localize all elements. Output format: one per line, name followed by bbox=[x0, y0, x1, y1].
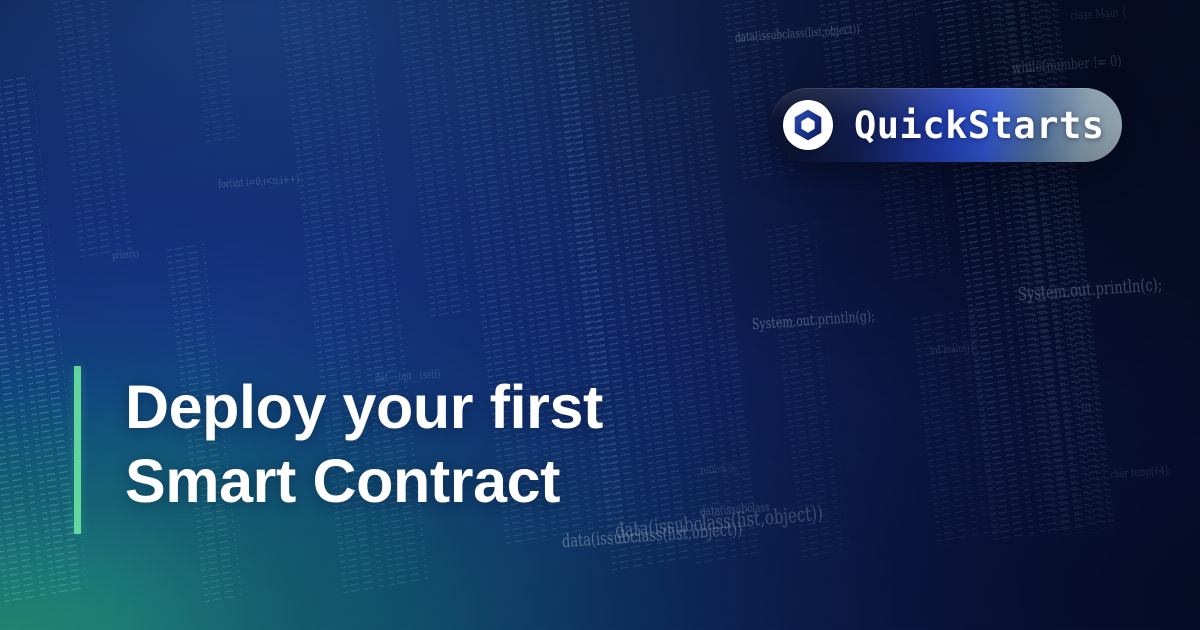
headline-line-2: Smart Contract bbox=[125, 444, 603, 518]
accent-bar bbox=[74, 366, 81, 534]
quickstarts-badge[interactable]: QuickStarts bbox=[770, 88, 1122, 162]
social-card: while(number != 0)data(issubclass(list,o… bbox=[0, 0, 1200, 630]
headline-block: Deploy your first Smart Contract bbox=[74, 366, 603, 534]
chainlink-hexagon-icon bbox=[783, 100, 833, 150]
page-title: Deploy your first Smart Contract bbox=[125, 366, 603, 534]
quickstarts-badge-label: QuickStarts bbox=[854, 104, 1105, 147]
headline-line-1: Deploy your first bbox=[125, 370, 603, 444]
